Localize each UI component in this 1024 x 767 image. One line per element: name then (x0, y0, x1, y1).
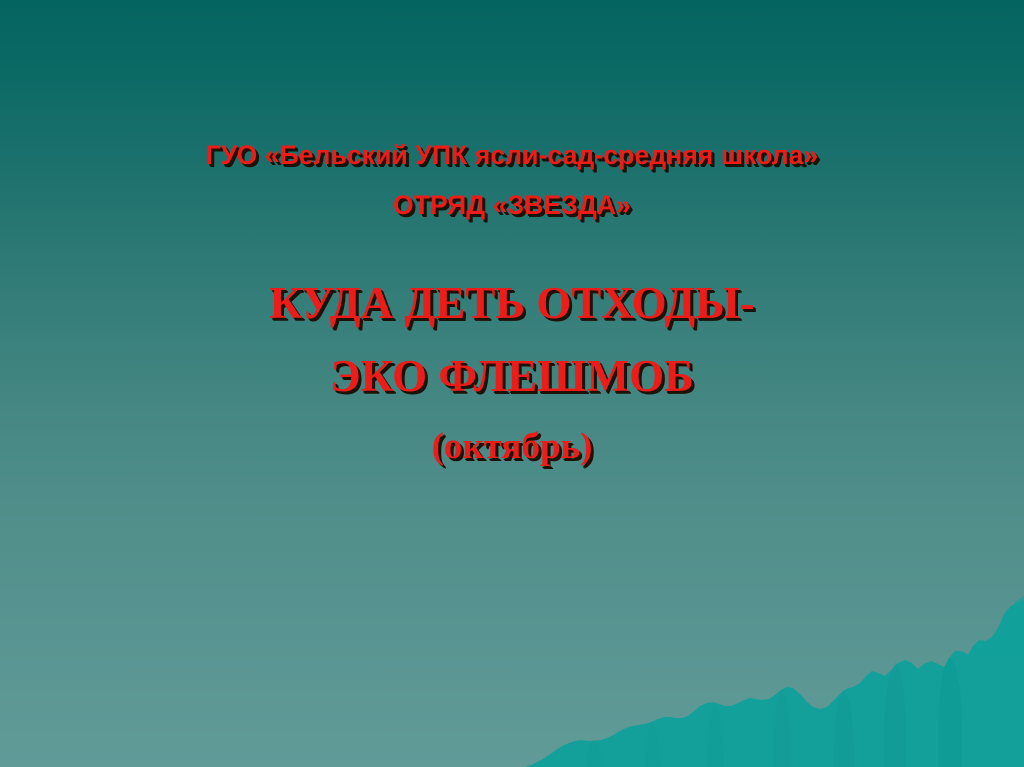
organization-heading: ГУО «Бельский УПК ясли-сад-средняя школа… (0, 140, 1024, 171)
page-title-line-1: КУДА ДЕТЬ ОТХОДЫ- (0, 277, 1024, 329)
presentation-slide: ГУО «Бельский УПК ясли-сад-средняя школа… (0, 0, 1024, 767)
squad-heading: ОТРЯД «ЗВЕЗДА» (0, 190, 1024, 221)
subtitle-month: (октябрь) (0, 425, 1024, 468)
page-title-line-2: ЭКО ФЛЕШМОБ (0, 350, 1024, 402)
